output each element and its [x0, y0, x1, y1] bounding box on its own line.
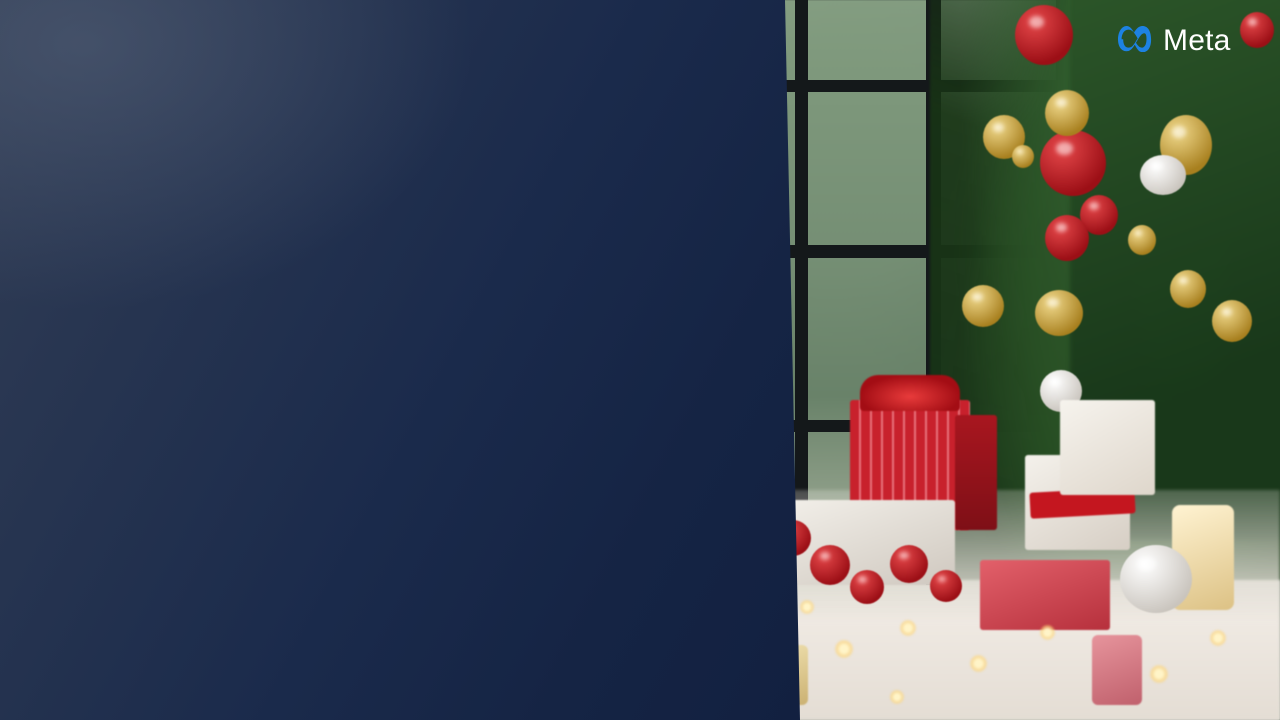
string-light — [890, 690, 904, 704]
gift-box — [955, 415, 997, 530]
ornament-icon — [1015, 5, 1073, 65]
string-light — [1210, 630, 1226, 646]
meta-wordmark: Meta — [1163, 24, 1231, 58]
snowman-figurine — [1120, 545, 1192, 613]
infographic-slide: Meta พฤติกรรมช้อปในไทย 5 อันดับหมวดหมู่ส… — [0, 0, 1280, 720]
ornament-icon — [1212, 300, 1252, 342]
string-light — [970, 655, 987, 672]
ornament-icon — [930, 570, 962, 602]
christmas-photo — [740, 0, 1280, 720]
ornament-icon — [1170, 270, 1206, 308]
ornament-icon — [810, 545, 850, 585]
meta-logo: Meta — [1118, 24, 1231, 58]
ornament-icon — [1040, 130, 1106, 196]
string-light — [1150, 665, 1168, 683]
string-light — [900, 620, 916, 636]
content-panel — [0, 0, 810, 720]
gift-box — [1060, 400, 1155, 495]
candle — [1092, 635, 1142, 705]
ornament-icon — [890, 545, 928, 583]
string-light — [1040, 625, 1055, 640]
ornament-icon — [1128, 225, 1156, 255]
ornament-icon — [1012, 145, 1034, 168]
ornament-icon — [1045, 215, 1089, 261]
ornament-icon — [1140, 155, 1186, 195]
ornament-icon — [962, 285, 1004, 327]
meta-infinity-icon — [1118, 26, 1154, 57]
gift-ribbon — [860, 375, 960, 411]
ornament-icon — [1045, 90, 1089, 136]
ornament-icon — [850, 570, 884, 604]
ornament-icon — [1035, 290, 1083, 336]
gift-box — [980, 560, 1110, 630]
string-light — [835, 640, 853, 658]
ornament-icon — [1240, 12, 1274, 48]
string-light — [800, 600, 814, 614]
